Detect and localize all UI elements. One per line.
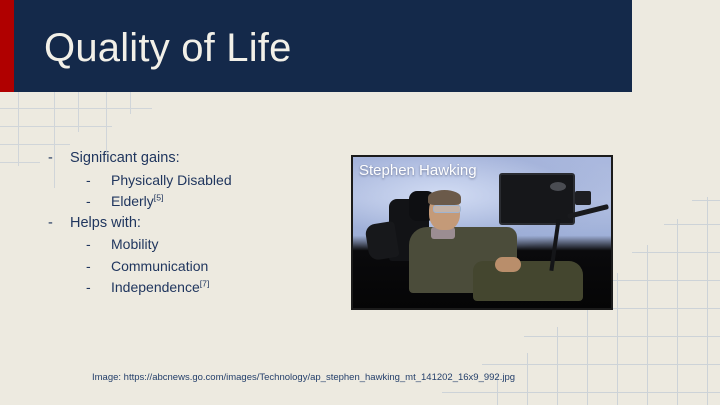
list-item-label: Mobility <box>111 234 158 256</box>
photo-screen-logo <box>550 182 566 191</box>
photo-mount-joint <box>575 191 591 205</box>
list-item: - Significant gains: <box>48 148 348 170</box>
bullet-dash-icon: - <box>86 256 111 278</box>
bullet-dash-icon: - <box>48 148 70 170</box>
list-item: - Elderly[5] <box>48 191 348 213</box>
bullet-dash-icon: - <box>86 234 111 256</box>
photo-person-lap <box>473 261 583 301</box>
list-item: - Mobility <box>48 234 348 256</box>
photo-person-glasses <box>433 205 461 213</box>
photo-person-hair <box>428 190 461 205</box>
bullet-dash-icon: - <box>86 170 111 192</box>
list-item: - Communication <box>48 256 348 278</box>
list-item: - Independence[7] <box>48 277 348 299</box>
reference-superscript: [7] <box>200 278 210 288</box>
bullet-dash-icon: - <box>48 213 70 235</box>
photo-speech-computer-screen <box>499 173 575 225</box>
bullet-dash-icon: - <box>86 277 111 299</box>
image-source-caption: Image: https://abcnews.go.com/images/Tec… <box>92 371 515 384</box>
bullet-list: - Significant gains: - Physically Disabl… <box>48 148 348 299</box>
list-item-label: Independence[7] <box>111 277 209 299</box>
slide-header-bar: Quality of Life <box>0 0 632 92</box>
list-item-label: Communication <box>111 256 208 278</box>
list-item-label: Elderly[5] <box>111 191 163 213</box>
bullet-dash-icon: - <box>86 191 111 213</box>
photo-person-hand <box>495 257 521 272</box>
photo-wheelchair-armrest <box>364 221 399 261</box>
presentation-slide: Quality of Life - Significant gains: - P… <box>0 0 720 405</box>
list-item-label: Significant gains: <box>70 148 180 170</box>
photo-overlay-caption: Stephen Hawking <box>359 162 477 180</box>
list-item-label: Helps with: <box>70 213 141 235</box>
header-accent-stripe <box>0 0 14 92</box>
list-item: - Helps with: <box>48 213 348 235</box>
stephen-hawking-photo: Stephen Hawking <box>351 155 613 310</box>
list-item-label: Physically Disabled <box>111 170 232 192</box>
page-title: Quality of Life <box>44 24 292 72</box>
reference-superscript: [5] <box>154 192 164 202</box>
list-item: - Physically Disabled <box>48 170 348 192</box>
